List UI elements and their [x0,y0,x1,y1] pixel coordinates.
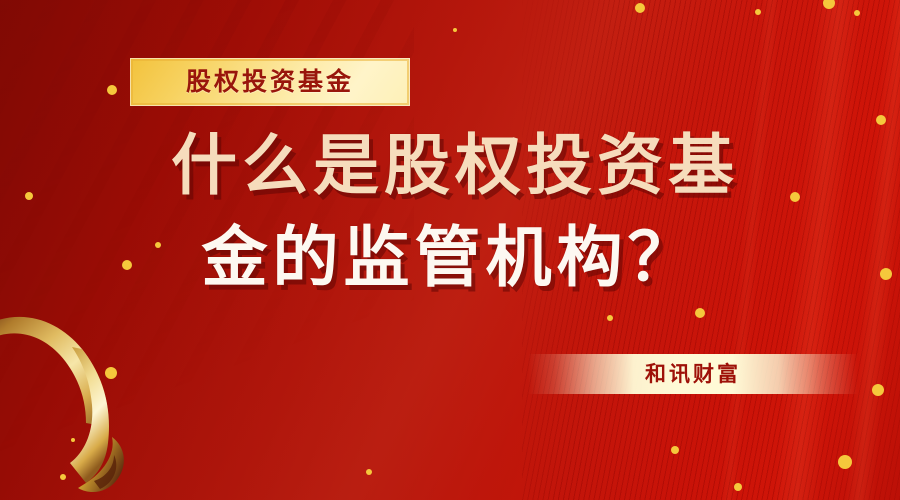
sparkle-dot-1 [107,85,117,95]
sparkle-dot-20 [734,483,742,491]
headline-block: 什么是股权投资基 金的监管机构？ [0,132,900,290]
category-badge-label: 股权投资基金 [186,70,354,95]
sparkle-dot-6 [60,474,66,480]
promo-poster: 股权投资基金 什么是股权投资基 金的监管机构？ 和讯财富 [0,0,900,500]
sparkle-dot-7 [71,438,75,442]
sparkle-dot-16 [872,384,884,396]
category-badge[interactable]: 股权投资基金 [130,58,410,106]
sparkle-dot-15 [695,308,705,318]
sparkle-dot-12 [876,115,886,125]
sparkle-dot-21 [366,469,372,475]
headline-line-1: 什么是股权投资基 [10,132,900,198]
sparkle-dot-17 [838,455,852,469]
sparkle-dot-19 [671,446,679,454]
sparkle-dot-11 [854,10,860,16]
headline-line-2: 金的监管机构？ [0,224,900,290]
sparkle-dot-22 [453,28,457,32]
sparkle-dot-18 [607,315,613,321]
gold-ribbon-icon [0,295,180,500]
sparkle-dot-5 [105,367,117,379]
brand-bar: 和讯财富 [528,354,858,394]
brand-name-label: 和讯财富 [645,364,741,385]
sparkle-dot-8 [635,3,645,13]
sparkle-dot-9 [755,9,761,15]
